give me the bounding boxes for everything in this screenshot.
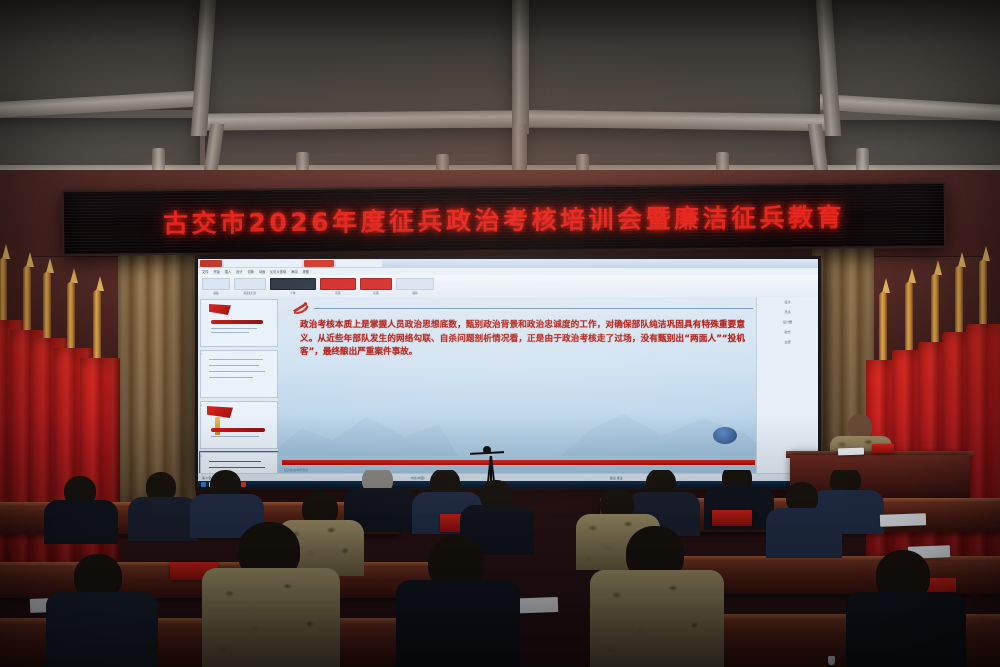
tab-design[interactable]: 设计 — [236, 269, 242, 274]
tab-insert[interactable]: 插入 — [225, 269, 231, 274]
ribbon-label: 新建幻灯片 — [244, 291, 257, 295]
slide-accent-bar — [282, 460, 755, 465]
drinking-cup — [828, 656, 835, 665]
document-paper — [838, 448, 864, 456]
desk-edge — [0, 562, 450, 567]
ribbon-group-drawing[interactable]: 绘图 — [360, 278, 392, 295]
pane-item-layout[interactable]: 版式 — [759, 330, 816, 335]
thumbnail-number: 4 — [200, 454, 202, 458]
thumbnail-number: 1 — [200, 301, 202, 305]
tab-animations[interactable]: 动画 — [259, 269, 265, 274]
ribbon-label: 编辑 — [412, 291, 417, 295]
pane-item-design[interactable]: 设计 — [759, 300, 816, 305]
active-slide[interactable]: 政治考核本质上是掌握人员政治思想底数，甄别政治背景和政治忠诚度的工作，对确保部队… — [278, 297, 761, 474]
slide-thumbnail-panel[interactable]: 1 2 3 — [198, 297, 281, 474]
document-paper — [880, 513, 926, 527]
pane-item-theme[interactable]: 主题 — [759, 340, 816, 345]
tab-file[interactable]: 文件 — [202, 269, 208, 274]
projection-screen: 文件 开始 插入 设计 切换 动画 幻灯片放映 审阅 视图 粘贴 新建幻灯片 — [195, 256, 821, 490]
slide-body-text: 政治考核本质上是掌握人员政治思想底数，甄别政治背景和政治忠诚度的工作，对确保部队… — [300, 319, 745, 360]
conference-room-photo: 古交市2026年度征兵政治考核培训会暨廉洁征兵教育 文件 开始 插入 设计 切换… — [0, 0, 1000, 667]
slide-thumbnail[interactable]: 2 — [200, 350, 278, 398]
ribbon-label: 绘图 — [373, 291, 378, 295]
tab-home[interactable]: 开始 — [213, 269, 219, 274]
ppt-app-chip — [200, 260, 222, 267]
ppt-tool-chip — [336, 260, 382, 267]
slide-thumbnail[interactable]: 3 — [200, 401, 278, 449]
projected-desktop: 文件 开始 插入 设计 切换 动画 幻灯片放映 审阅 视图 粘贴 新建幻灯片 — [198, 259, 818, 487]
name-placard — [872, 444, 894, 453]
slide-seal-logo — [713, 427, 737, 444]
ribbon-group-paragraph[interactable]: 段落 — [320, 278, 356, 295]
party-emblem-icon — [290, 301, 310, 315]
led-banner: 古交市2026年度征兵政治考核培训会暨廉洁征兵教育 — [62, 182, 947, 256]
thumbnail-number: 3 — [200, 403, 202, 407]
tab-transitions[interactable]: 切换 — [248, 269, 254, 274]
tab-review[interactable]: 审阅 — [291, 269, 297, 274]
ribbon-group-paste[interactable]: 粘贴 — [202, 278, 230, 295]
ppt-title-bar — [198, 259, 818, 268]
ribbon-label: 段落 — [335, 291, 340, 295]
ppt-ribbon[interactable]: 粘贴 新建幻灯片 字体 段落 绘图 — [198, 275, 818, 298]
banner-text: 古交市2026年度征兵政治考核培训会暨廉洁征兵教育 — [163, 198, 845, 241]
ribbon-label: 粘贴 — [213, 291, 218, 295]
video-camera — [483, 446, 491, 454]
slide-divider — [314, 308, 753, 309]
ppt-ribbon-tabs[interactable]: 文件 开始 插入 设计 切换 动画 幻灯片放映 审阅 视图 — [198, 268, 818, 275]
ribbon-group-editing[interactable]: 编辑 — [396, 278, 434, 295]
ceiling — [0, 0, 1000, 186]
pane-item-ideas[interactable]: 灵感 — [759, 310, 816, 315]
audience-area — [0, 470, 1000, 667]
thumbnail-number: 2 — [200, 352, 202, 356]
ppt-doc-chip — [224, 260, 302, 267]
ribbon-group-new-slide[interactable]: 新建幻灯片 — [234, 278, 266, 295]
name-placard — [712, 510, 752, 526]
tab-view[interactable]: 视图 — [303, 269, 309, 274]
tab-slideshow[interactable]: 幻灯片放映 — [270, 269, 286, 274]
ribbon-group-font[interactable]: 字体 — [270, 278, 316, 295]
ppt-tool-chip — [304, 260, 334, 267]
ribbon-label: 字体 — [290, 291, 295, 295]
design-task-pane[interactable]: 设计 灵感 设计器 版式 主题 — [756, 297, 818, 474]
slide-thumbnail[interactable]: 1 — [200, 299, 278, 347]
pane-item-designer[interactable]: 设计器 — [759, 320, 816, 325]
